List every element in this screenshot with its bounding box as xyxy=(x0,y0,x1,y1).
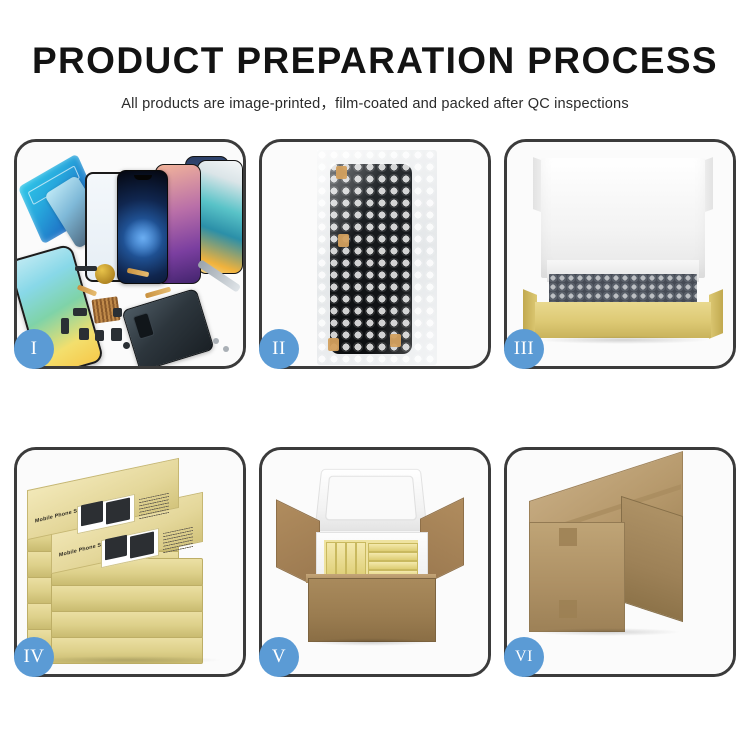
carton-front-graphic xyxy=(529,522,625,632)
small-part-graphic xyxy=(113,308,122,317)
box-spec-lines-graphic xyxy=(163,527,193,555)
box-layer xyxy=(51,584,203,612)
box-stack-scene: Mobile Phone Spare Parts Mobile Phone Sp… xyxy=(17,450,243,674)
step-badge-1: I xyxy=(14,329,54,369)
drop-shadow-graphic xyxy=(537,336,709,344)
step-1-image xyxy=(17,142,243,366)
packed-box-item xyxy=(368,552,418,561)
step-badge-2: II xyxy=(259,329,299,369)
small-part-graphic xyxy=(73,308,87,316)
drop-shadow-graphic xyxy=(533,628,681,636)
inner-box-scene xyxy=(507,142,733,366)
page-subtitle: All products are image-printed，film-coat… xyxy=(0,92,750,113)
step-2-image xyxy=(262,142,488,366)
tape-graphic xyxy=(328,338,339,351)
foam-lid-graphic xyxy=(314,469,427,531)
box-layer xyxy=(51,610,203,638)
page-title: PRODUCT PREPARATION PROCESS xyxy=(0,42,750,79)
drop-shadow-graphic xyxy=(31,656,223,664)
sealed-carton-scene xyxy=(507,450,733,674)
foam-carton-scene xyxy=(262,450,488,674)
step-5-image xyxy=(262,450,488,674)
kraft-box-front-graphic xyxy=(535,302,711,338)
process-step-6: VI xyxy=(504,447,736,677)
carton-tab-graphic xyxy=(559,600,577,618)
step-6-image xyxy=(507,450,733,674)
small-part-graphic xyxy=(95,330,104,341)
process-step-3: III xyxy=(504,139,736,369)
product-preparation-infographic: PRODUCT PREPARATION PROCESS All products… xyxy=(0,0,750,750)
tape-graphic xyxy=(338,234,349,247)
step-badge-5: V xyxy=(259,637,299,677)
plastic-sheen-graphic xyxy=(317,150,437,365)
tape-graphic xyxy=(336,166,347,179)
tape-graphic xyxy=(390,334,401,347)
bubble-wrap-scene xyxy=(262,142,488,366)
small-part-graphic xyxy=(75,266,97,271)
step-badge-4: IV xyxy=(14,637,54,677)
phone-screen-dark-graphic xyxy=(117,170,168,284)
phone-screen-teal-graphic xyxy=(197,160,243,274)
process-step-grid: I II xyxy=(14,139,736,677)
step-4-image: Mobile Phone Spare Parts Mobile Phone Sp… xyxy=(17,450,243,674)
process-step-4: Mobile Phone Spare Parts Mobile Phone Sp… xyxy=(14,447,246,677)
process-step-5: V xyxy=(259,447,491,677)
process-step-1: I xyxy=(14,139,246,369)
screw-graphic xyxy=(223,346,229,352)
speaker-component-graphic xyxy=(95,264,115,284)
small-part-graphic xyxy=(61,318,69,334)
packed-box-item xyxy=(368,561,418,570)
carton-side-graphic xyxy=(621,496,683,622)
header: PRODUCT PREPARATION PROCESS All products… xyxy=(0,0,750,113)
carton-tab-graphic xyxy=(559,528,577,546)
step-badge-3: III xyxy=(504,329,544,369)
screw-graphic xyxy=(123,342,130,349)
small-part-graphic xyxy=(111,328,122,341)
packed-box-item xyxy=(368,543,418,552)
drop-shadow-graphic xyxy=(310,638,432,646)
carton-front-graphic xyxy=(308,578,436,642)
step-3-image xyxy=(507,142,733,366)
box-side-right-graphic xyxy=(709,289,723,339)
bubble-wrapped-contents-graphic xyxy=(549,274,697,304)
process-step-2: II xyxy=(259,139,491,369)
box-stack-graphic: Mobile Phone Spare Parts Mobile Phone Sp… xyxy=(23,474,237,664)
screw-graphic xyxy=(213,338,219,344)
step-badge-6: VI xyxy=(504,637,544,677)
back-housing-graphic xyxy=(121,288,214,366)
phone-parts-scene xyxy=(17,142,243,366)
small-part-graphic xyxy=(79,328,89,340)
